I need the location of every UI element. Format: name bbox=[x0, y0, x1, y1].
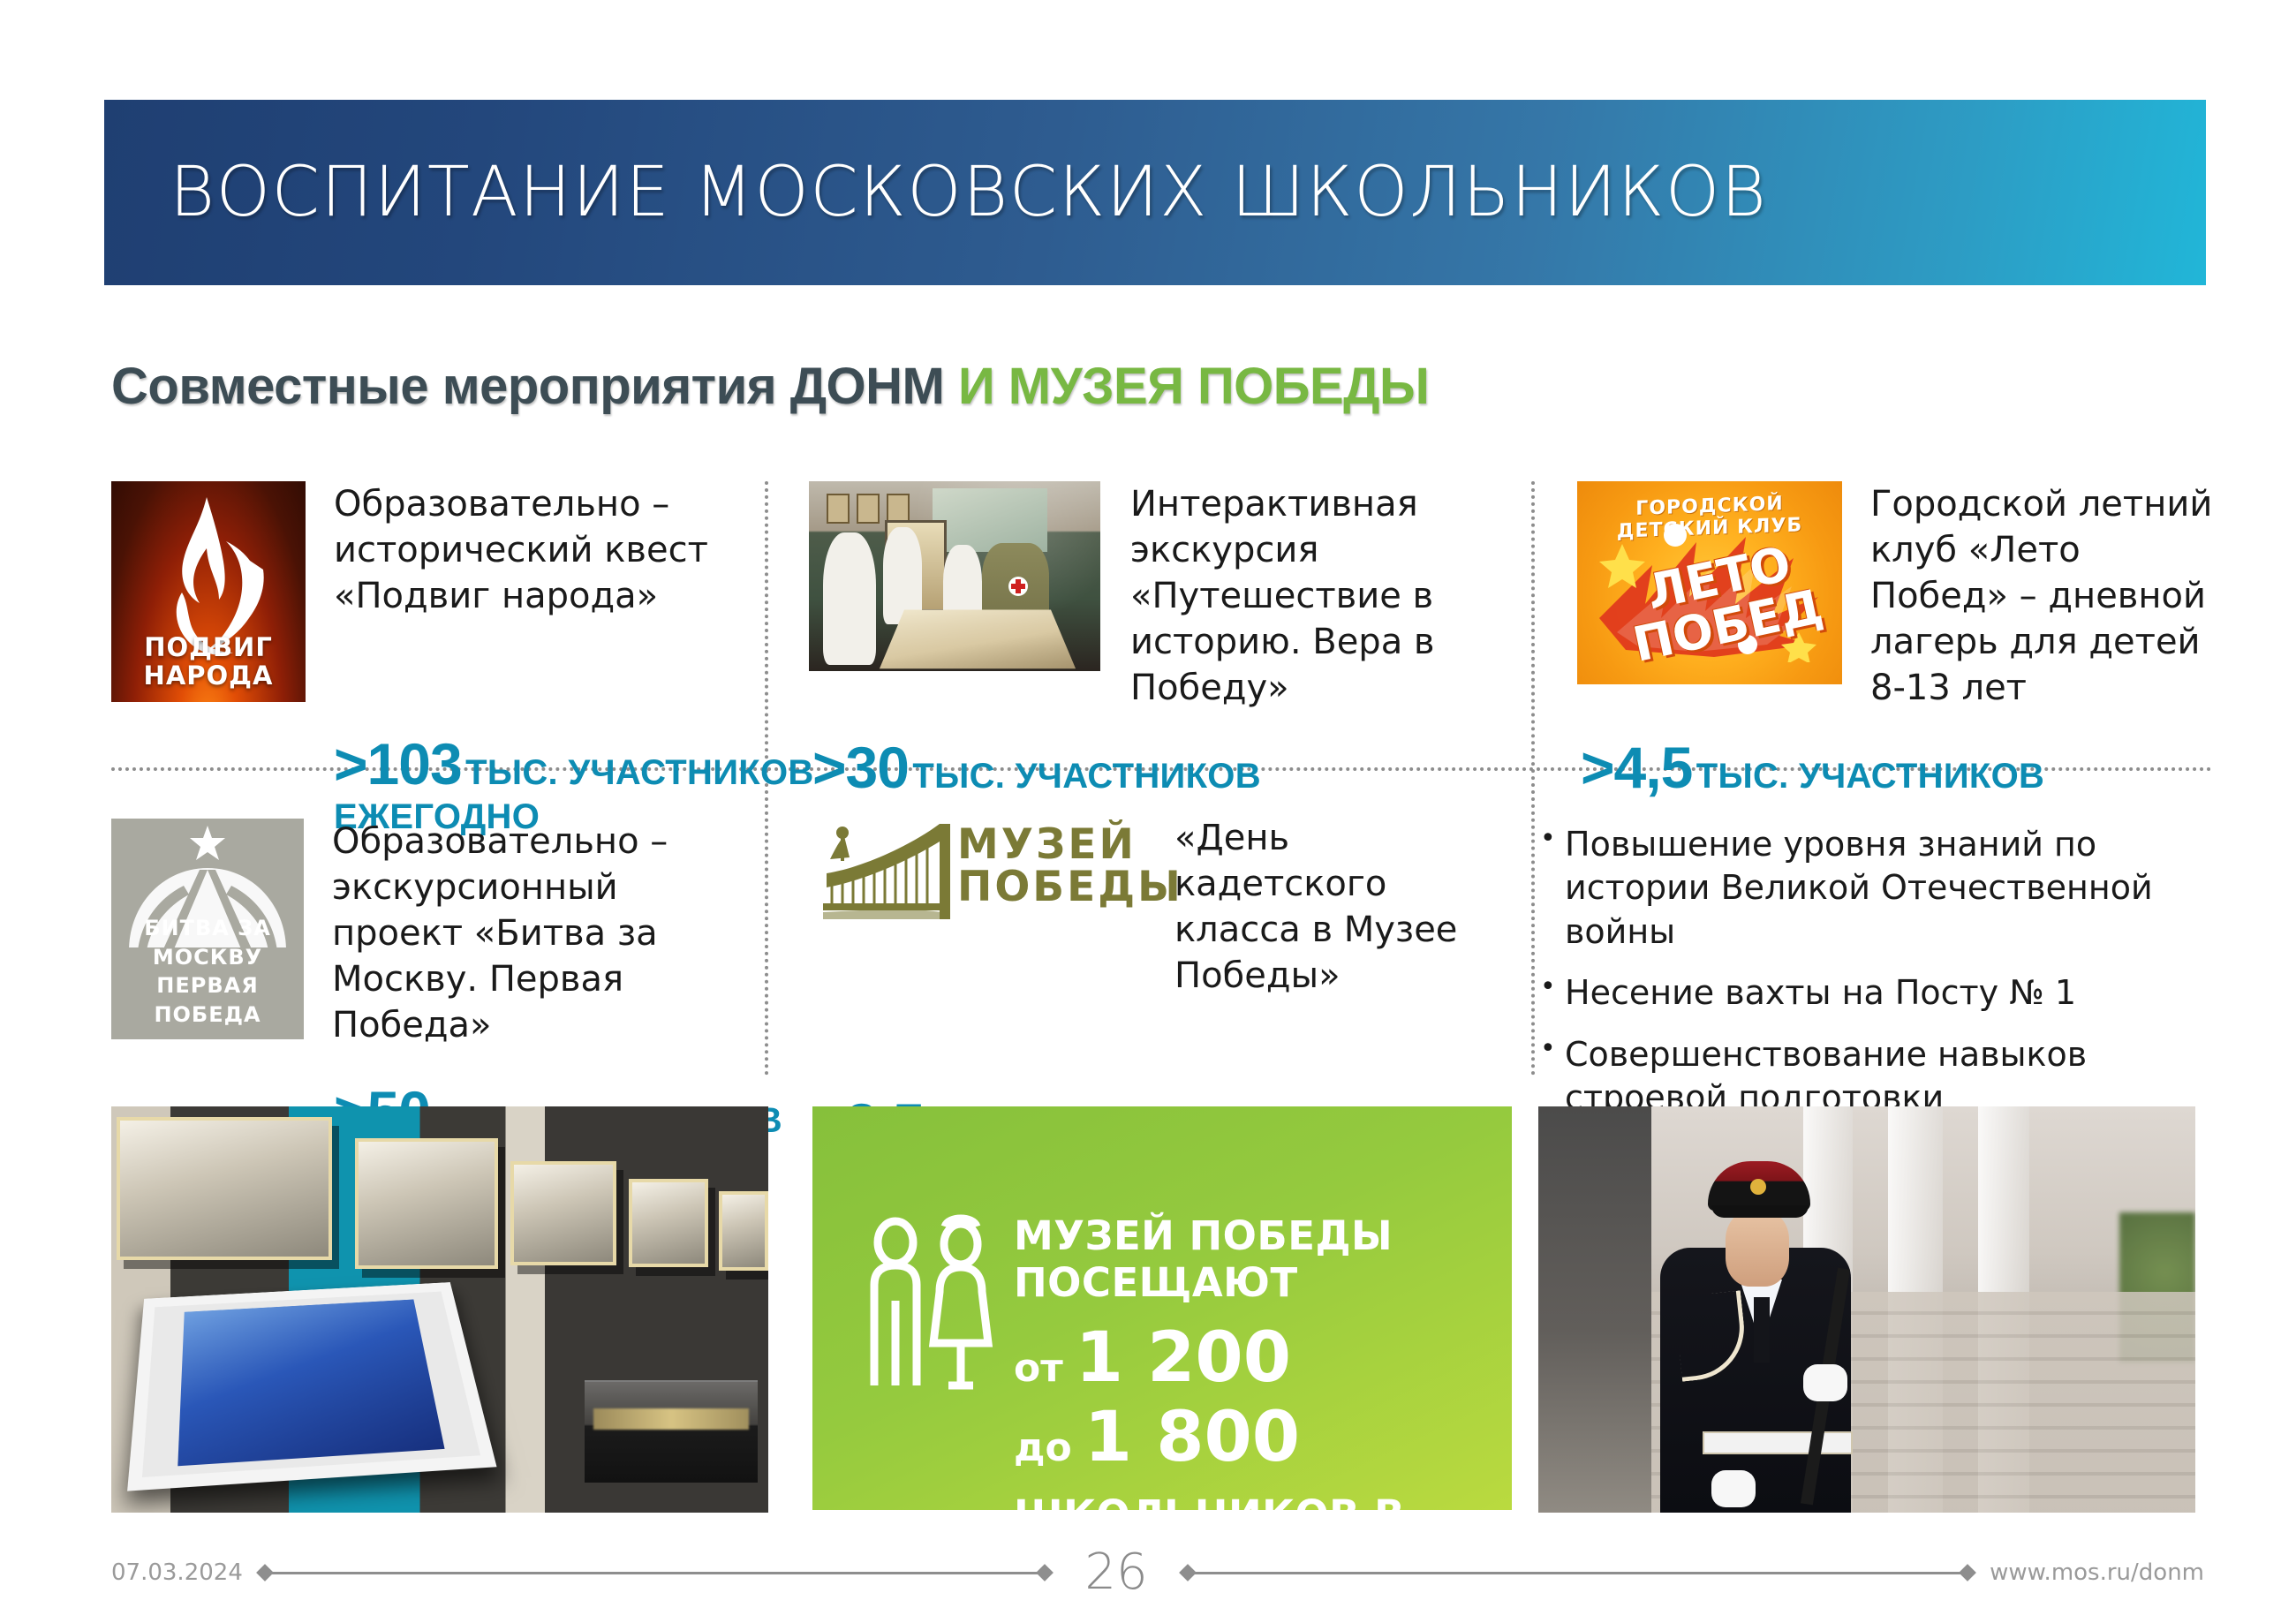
photo-wall-frame bbox=[857, 494, 880, 524]
framed-photo bbox=[355, 1138, 498, 1269]
stat-heading-line2: ПОСЕЩАЮТ bbox=[1014, 1259, 1496, 1306]
stat-line: >4,5 ТЫС. УЧАСТНИКОВ bbox=[1581, 734, 2213, 801]
footer-date: 07.03.2024 bbox=[111, 1559, 243, 1586]
visitors-range: от 1 200 до 1 800 bbox=[1014, 1318, 1496, 1477]
stat-value: >4,5 bbox=[1581, 735, 1692, 800]
from-value: 1 200 bbox=[1076, 1318, 1291, 1398]
slide: ВОСПИТАНИЕ МОСКОВСКИХ ШКОЛЬНИКОВ Совмест… bbox=[0, 0, 2296, 1623]
card-description: Образовательно – экскурсионный проект «Б… bbox=[332, 819, 729, 1048]
card-leto-pobed[interactable]: ГОРОДСКОЙ ДЕТСКИЙ КЛУБ ЛЕТО ПОБЕД bbox=[1577, 481, 2213, 801]
page-title: ВОСПИТАНИЕ МОСКОВСКИХ ШКОЛЬНИКОВ bbox=[170, 153, 1767, 232]
to-value: 1 800 bbox=[1084, 1398, 1300, 1477]
card-description: Городской летний клуб «Лето Побед» – дне… bbox=[1870, 481, 2213, 711]
bridge-monument-icon bbox=[809, 819, 959, 925]
podvig-naroda-logo: ПОДВИГ НАРОДА bbox=[111, 481, 306, 702]
to-label: до bbox=[1014, 1425, 1072, 1470]
page-number: 26 bbox=[1067, 1544, 1165, 1601]
framed-photo bbox=[629, 1179, 708, 1267]
footer: 07.03.2024 26 www.mos.ru/donm bbox=[0, 1544, 2296, 1605]
photo-child bbox=[823, 532, 876, 665]
museum-exhibition-hall-photo bbox=[111, 1106, 768, 1513]
cadet-glove bbox=[1711, 1470, 1756, 1507]
photo-wall-frame bbox=[827, 494, 850, 524]
cadet-tie bbox=[1754, 1297, 1770, 1363]
header-band: ВОСПИТАНИЕ МОСКОВСКИХ ШКОЛЬНИКОВ bbox=[104, 100, 2206, 285]
muzey-logo-words: МУЗЕЙ ПОБЕДЫ bbox=[957, 824, 1183, 909]
footer-rule-left bbox=[259, 1564, 1052, 1581]
card-description: «День кадетского класса в Музее Победы» bbox=[1174, 815, 1466, 999]
leto-pobed-logo: ГОРОДСКОЙ ДЕТСКИЙ КЛУБ ЛЕТО ПОБЕД bbox=[1577, 481, 1842, 684]
footer-rule-right bbox=[1182, 1564, 1975, 1581]
stat-unit: ТЫС. УЧАСТНИКОВ bbox=[1696, 757, 2044, 796]
visitors-stat-text: МУЗЕЙ ПОБЕДЫ ПОСЕЩАЮТ от 1 200 до 1 800 … bbox=[1014, 1212, 1496, 1510]
visitors-from-row: от 1 200 bbox=[1014, 1318, 1496, 1398]
stat-line: >103 ТЫС. УЧАСТНИКОВ bbox=[334, 730, 729, 797]
subtitle-green-part: И МУЗЕЯ ПОБЕДЫ bbox=[958, 358, 1429, 415]
glass-showcase bbox=[585, 1380, 758, 1483]
tilted-lightbox-display bbox=[127, 1282, 496, 1491]
from-label: от bbox=[1014, 1346, 1063, 1391]
interactive-excursion-photo bbox=[809, 481, 1100, 671]
photo-glass-wall bbox=[1538, 1106, 1651, 1513]
stat-value: >30 bbox=[812, 735, 909, 800]
two-people-icon bbox=[864, 1212, 996, 1398]
visitors-stat-block: МУЗЕЙ ПОБЕДЫ ПОСЕЩАЮТ от 1 200 до 1 800 … bbox=[812, 1106, 1512, 1510]
stat-value: >103 bbox=[334, 731, 462, 796]
stat-unit: ТЫС. УЧАСТНИКОВ bbox=[912, 757, 1260, 796]
cadet-belt bbox=[1703, 1431, 1853, 1454]
section-subtitle: Совместные мероприятия ДОНМ И МУЗЕЯ ПОБЕ… bbox=[111, 357, 1429, 416]
framed-photo bbox=[510, 1161, 616, 1265]
bitva-logo-caption: БИТВА ЗА МОСКВУ ПЕРВАЯ ПОБЕДА bbox=[111, 914, 304, 1029]
photo-documents bbox=[880, 609, 1076, 668]
benefits-list: Повышение уровня знаний по истории Велик… bbox=[1538, 823, 2192, 1137]
photo-wall-frame bbox=[887, 494, 910, 524]
cadet-guard-photo bbox=[1538, 1106, 2195, 1513]
card-interactive-excursion[interactable]: Интерактивная экскурсия «Путешествие в и… bbox=[809, 481, 1480, 801]
red-cross-icon bbox=[1008, 577, 1028, 596]
muzey-pobedy-logo: МУЗЕЙ ПОБЕДЫ bbox=[809, 819, 1162, 951]
card-description: Интерактивная экскурсия «Путешествие в и… bbox=[1130, 481, 1466, 711]
stat-unit: ТЫС. УЧАСТНИКОВ bbox=[465, 753, 813, 792]
card-description: Образовательно – исторический квест «Под… bbox=[334, 481, 722, 619]
footer-url[interactable]: www.mos.ru/donm bbox=[1990, 1559, 2204, 1586]
cadet-glove bbox=[1803, 1364, 1847, 1401]
cadet-head bbox=[1726, 1211, 1789, 1287]
stat-footer-label: ШКОЛЬНИКОВ В ДЕНЬ bbox=[1014, 1491, 1496, 1510]
card-podvig-naroda[interactable]: ПОДВИГ НАРОДА Образовательно – историчес… bbox=[111, 481, 729, 837]
stat-heading-line1: МУЗЕЙ ПОБЕДЫ bbox=[1014, 1212, 1496, 1259]
vertical-divider-2 bbox=[1531, 481, 1535, 1076]
subtitle-dark-part: Совместные мероприятия ДОНМ bbox=[111, 358, 958, 415]
cadet-cap-brim bbox=[1711, 1205, 1809, 1218]
visitors-to-row: до 1 800 bbox=[1014, 1398, 1496, 1477]
list-item: Повышение уровня знаний по истории Велик… bbox=[1538, 823, 2192, 954]
framed-photo bbox=[117, 1117, 332, 1260]
cadet-cockade bbox=[1750, 1179, 1766, 1195]
podvig-logo-caption: ПОДВИГ НАРОДА bbox=[111, 634, 306, 690]
stat-line: >30 ТЫС. УЧАСТНИКОВ bbox=[812, 734, 1480, 801]
framed-photo bbox=[719, 1191, 768, 1271]
list-item: Несение вахты на Посту № 1 bbox=[1538, 971, 2192, 1015]
bitva-za-moskvu-logo: БИТВА ЗА МОСКВУ ПЕРВАЯ ПОБЕДА bbox=[111, 819, 304, 1039]
